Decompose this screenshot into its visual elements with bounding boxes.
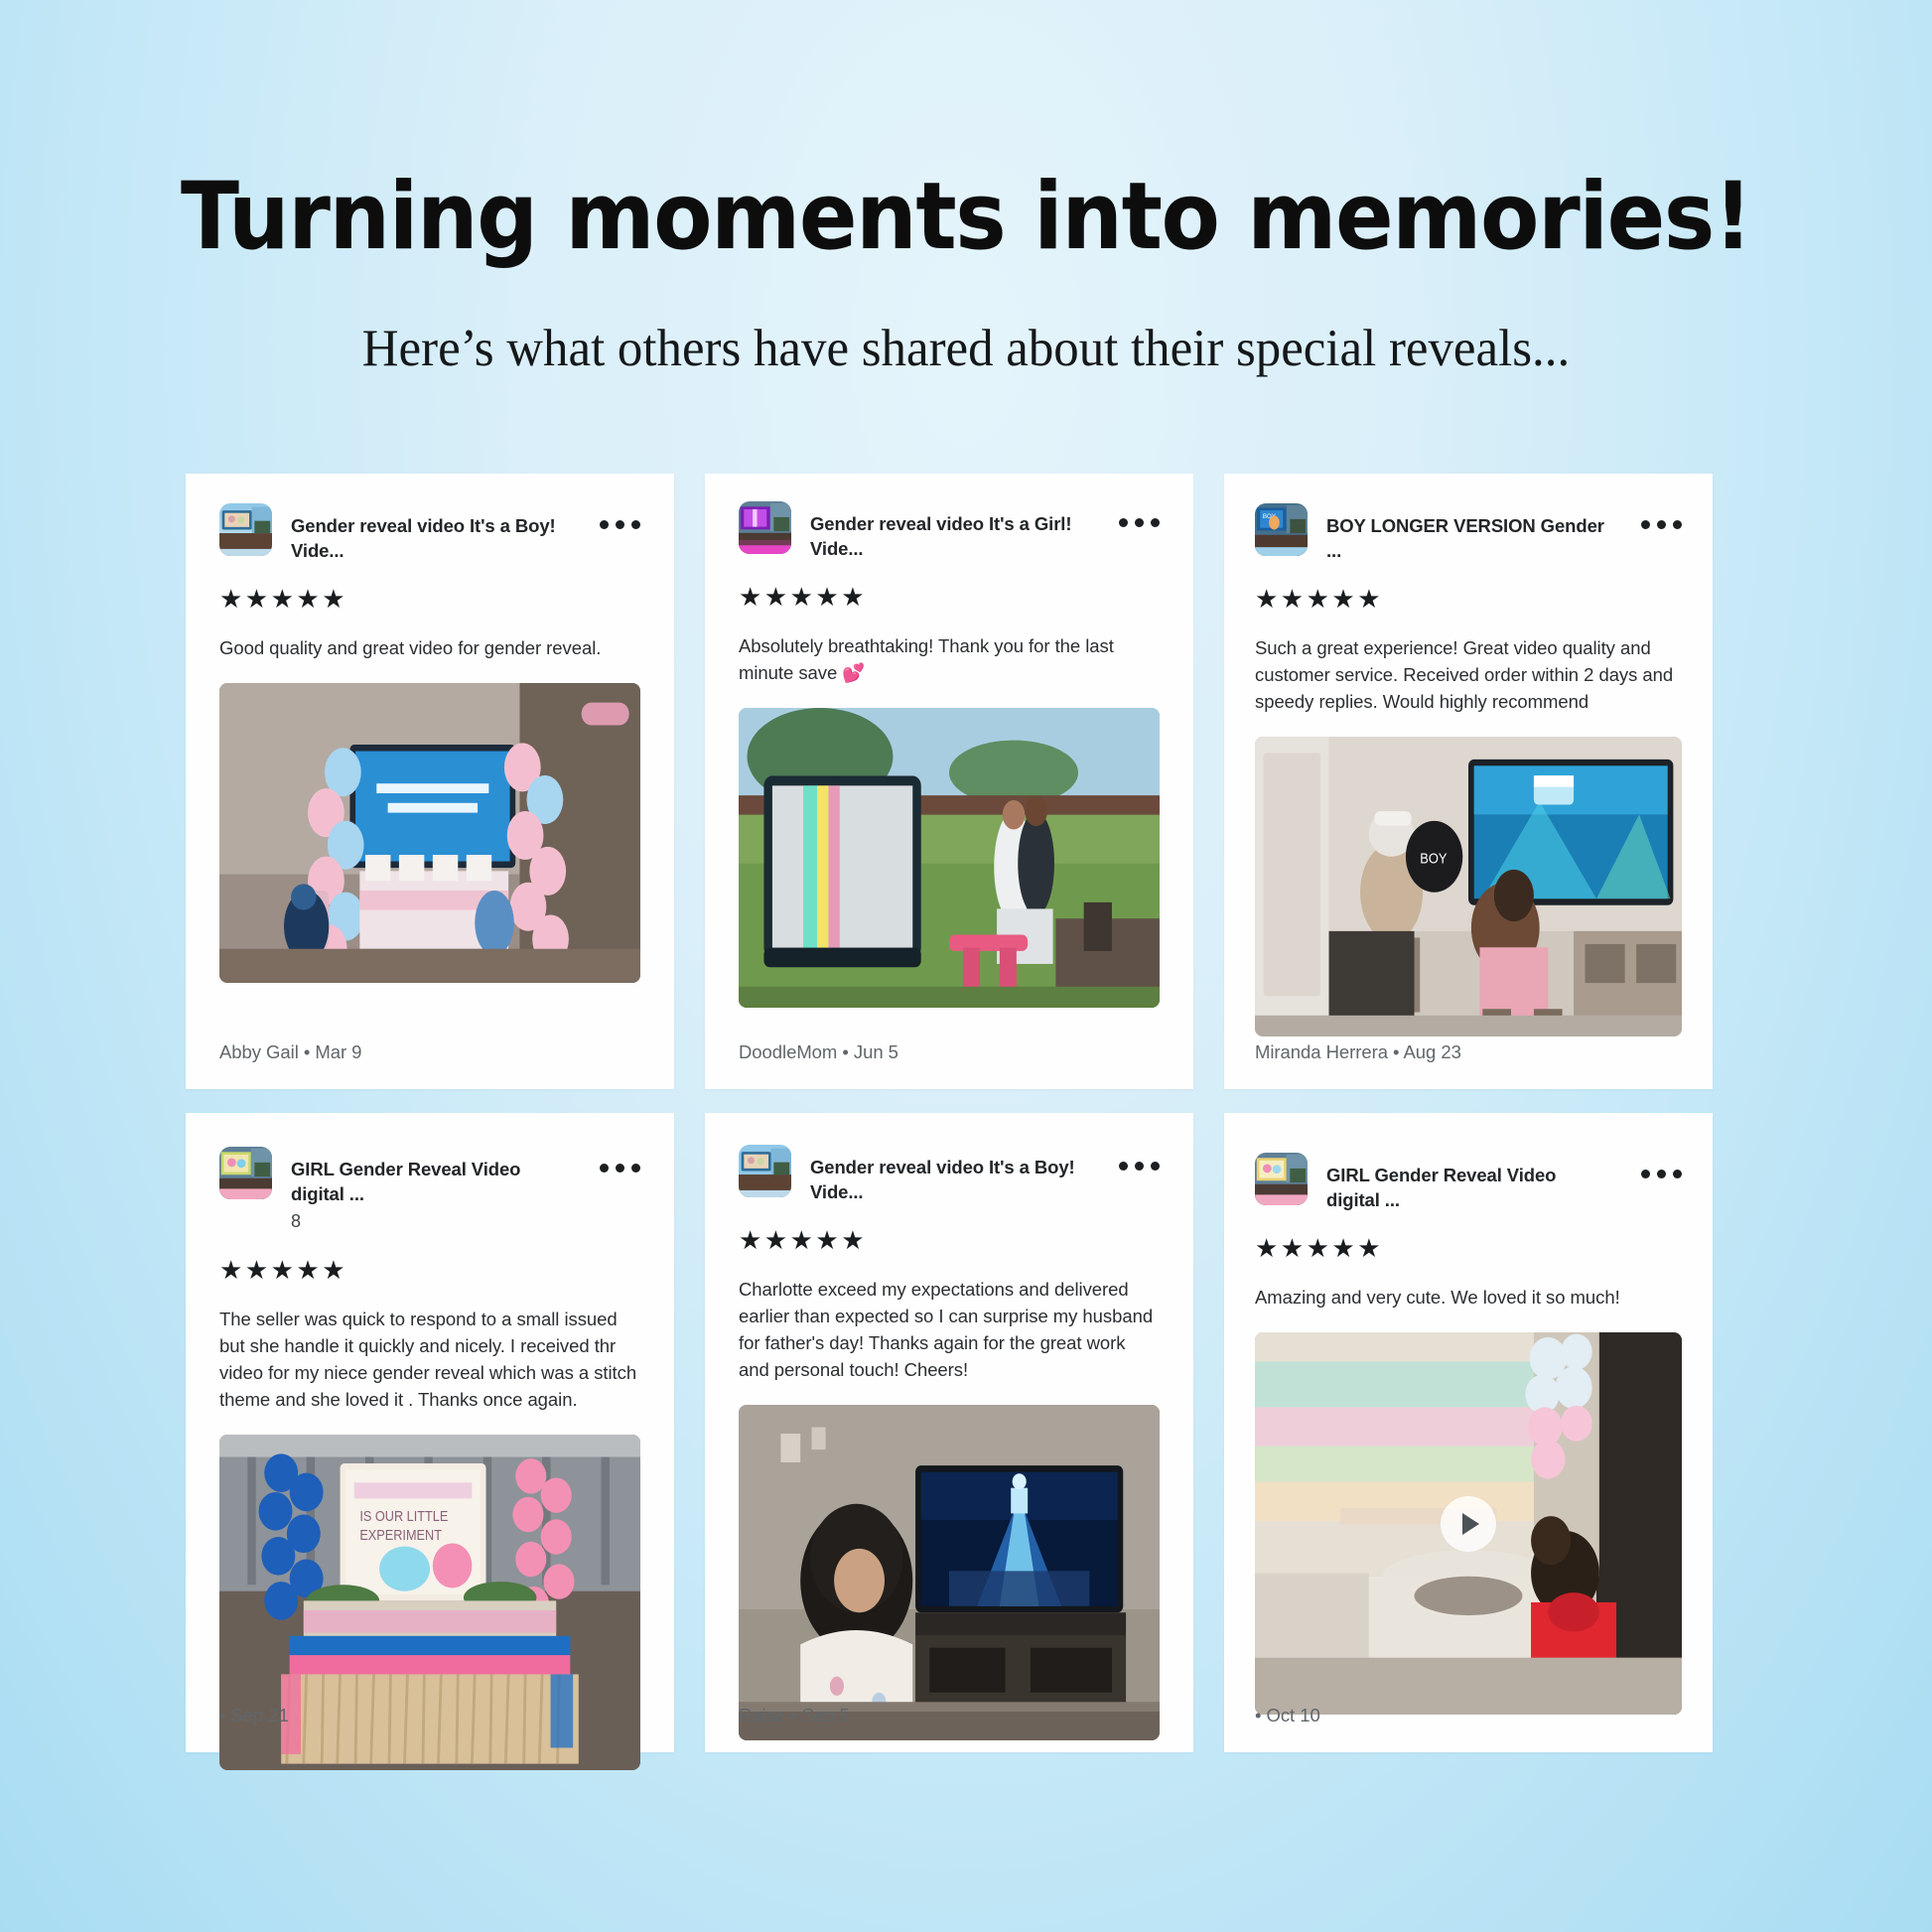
listing-title-text: Gender reveal video It's a Girl! Vide...: [810, 513, 1071, 558]
dot: [616, 520, 624, 529]
page-header: Turning moments into memories! Here’s wh…: [0, 0, 1932, 377]
listing-thumbnail-icon[interactable]: [219, 503, 272, 556]
listing-title-text: GIRL Gender Reveal Video digital ...: [291, 1159, 520, 1203]
review-photo[interactable]: [1255, 1332, 1682, 1715]
review-text: Amazing and very cute. We loved it so mu…: [1255, 1284, 1682, 1311]
page-title: Turning moments into memories!: [77, 171, 1855, 264]
review-photo[interactable]: [739, 1405, 1160, 1740]
dot: [631, 520, 640, 529]
review-card[interactable]: Gender reveal video It's a Boy! Vide... …: [705, 1113, 1193, 1752]
dot: [1657, 520, 1666, 529]
review-text: The seller was quick to respond to a sma…: [219, 1306, 640, 1413]
listing-title-text: Gender reveal video It's a Boy! Vide...: [810, 1157, 1075, 1201]
three-dots-icon[interactable]: [1641, 1153, 1682, 1178]
svg-text:EXPERIMENT: EXPERIMENT: [359, 1527, 442, 1543]
three-dots-icon[interactable]: [1641, 503, 1682, 529]
dot: [1641, 520, 1650, 529]
listing-title[interactable]: Gender reveal video It's a Boy! Vide...: [810, 1145, 1092, 1204]
dot: [600, 1164, 609, 1173]
listing-title[interactable]: Gender reveal video It's a Girl! Vide...: [810, 501, 1092, 561]
review-footer: Raisa • Sep 5: [739, 1705, 850, 1726]
review-footer: • Oct 10: [1255, 1705, 1320, 1726]
dot: [1673, 520, 1682, 529]
dot: [1657, 1170, 1666, 1178]
review-photo[interactable]: BOY: [1255, 737, 1682, 1036]
star-rating: ★★★★★: [1255, 1235, 1682, 1261]
review-card-header: GIRL Gender Reveal Video digital ... 8: [219, 1147, 640, 1234]
three-dots-icon[interactable]: [600, 503, 640, 529]
review-footer: Miranda Herrera • Aug 23: [1255, 1041, 1461, 1063]
star-rating: ★★★★★: [739, 1227, 1160, 1253]
listing-thumbnail-icon[interactable]: [1255, 1153, 1308, 1205]
review-card[interactable]: BOY BOY LONGER VERSION Gender ... ★★★★★ …: [1224, 474, 1713, 1089]
listing-thumbnail-icon[interactable]: BOY: [1255, 503, 1308, 556]
review-text: Charlotte exceed my expectations and del…: [739, 1276, 1160, 1383]
review-text: Good quality and great video for gender …: [219, 634, 640, 661]
dot: [1151, 518, 1160, 527]
review-card[interactable]: GIRL Gender Reveal Video digital ... 8 ★…: [186, 1113, 674, 1752]
dot: [1135, 1162, 1144, 1171]
review-footer: • Sep 21: [219, 1705, 289, 1726]
dot: [1673, 1170, 1682, 1178]
listing-title-text: GIRL Gender Reveal Video digital ...: [1326, 1165, 1556, 1209]
listing-title[interactable]: BOY LONGER VERSION Gender ...: [1326, 503, 1614, 563]
review-card-header: Gender reveal video It's a Girl! Vide...: [739, 501, 1160, 561]
listing-title-text: Gender reveal video It's a Boy! Vide...: [291, 515, 556, 560]
listing-title[interactable]: GIRL Gender Reveal Video digital ...: [1326, 1153, 1614, 1212]
reviews-grid: Gender reveal video It's a Boy! Vide... …: [186, 474, 1746, 1752]
review-card[interactable]: Gender reveal video It's a Boy! Vide... …: [186, 474, 674, 1089]
dot: [1151, 1162, 1160, 1171]
star-rating: ★★★★★: [1255, 586, 1682, 612]
play-icon[interactable]: [1441, 1496, 1496, 1552]
dot: [1135, 518, 1144, 527]
svg-text:BOY: BOY: [1420, 850, 1447, 867]
listing-title[interactable]: Gender reveal video It's a Boy! Vide...: [291, 503, 573, 563]
three-dots-icon[interactable]: [1119, 1145, 1160, 1171]
review-card-header: GIRL Gender Reveal Video digital ...: [1255, 1153, 1682, 1212]
listing-thumbnail-icon[interactable]: [739, 501, 791, 554]
dot: [1641, 1170, 1650, 1178]
listing-title[interactable]: GIRL Gender Reveal Video digital ... 8: [291, 1147, 573, 1234]
star-rating: ★★★★★: [219, 1257, 640, 1283]
listing-thumbnail-icon[interactable]: [219, 1147, 272, 1199]
star-rating: ★★★★★: [219, 586, 640, 612]
review-card[interactable]: Gender reveal video It's a Girl! Vide...…: [705, 474, 1193, 1089]
svg-text:IS OUR LITTLE: IS OUR LITTLE: [359, 1508, 448, 1524]
review-photo[interactable]: [219, 683, 640, 983]
review-text: Absolutely breathtaking! Thank you for t…: [739, 632, 1160, 686]
review-footer: DoodleMom • Jun 5: [739, 1041, 898, 1063]
dot: [1119, 1162, 1128, 1171]
dot: [1119, 518, 1128, 527]
star-rating: ★★★★★: [739, 584, 1160, 610]
listing-title-text: BOY LONGER VERSION Gender ...: [1326, 515, 1604, 560]
three-dots-icon[interactable]: [600, 1147, 640, 1173]
review-card-header: Gender reveal video It's a Boy! Vide...: [219, 503, 640, 563]
review-text: Such a great experience! Great video qua…: [1255, 634, 1682, 715]
listing-thumbnail-icon[interactable]: [739, 1145, 791, 1197]
review-photo[interactable]: [739, 708, 1160, 1008]
dot: [631, 1164, 640, 1173]
dot: [600, 520, 609, 529]
review-card[interactable]: GIRL Gender Reveal Video digital ... ★★★…: [1224, 1113, 1713, 1752]
page-subtitle: Here’s what others have shared about the…: [39, 320, 1893, 377]
review-card-header: BOY BOY LONGER VERSION Gender ...: [1255, 503, 1682, 563]
review-card-header: Gender reveal video It's a Boy! Vide...: [739, 1145, 1160, 1204]
three-dots-icon[interactable]: [1119, 501, 1160, 527]
review-footer: Abby Gail • Mar 9: [219, 1041, 361, 1063]
listing-subtitle: 8: [291, 1210, 573, 1234]
dot: [616, 1164, 624, 1173]
